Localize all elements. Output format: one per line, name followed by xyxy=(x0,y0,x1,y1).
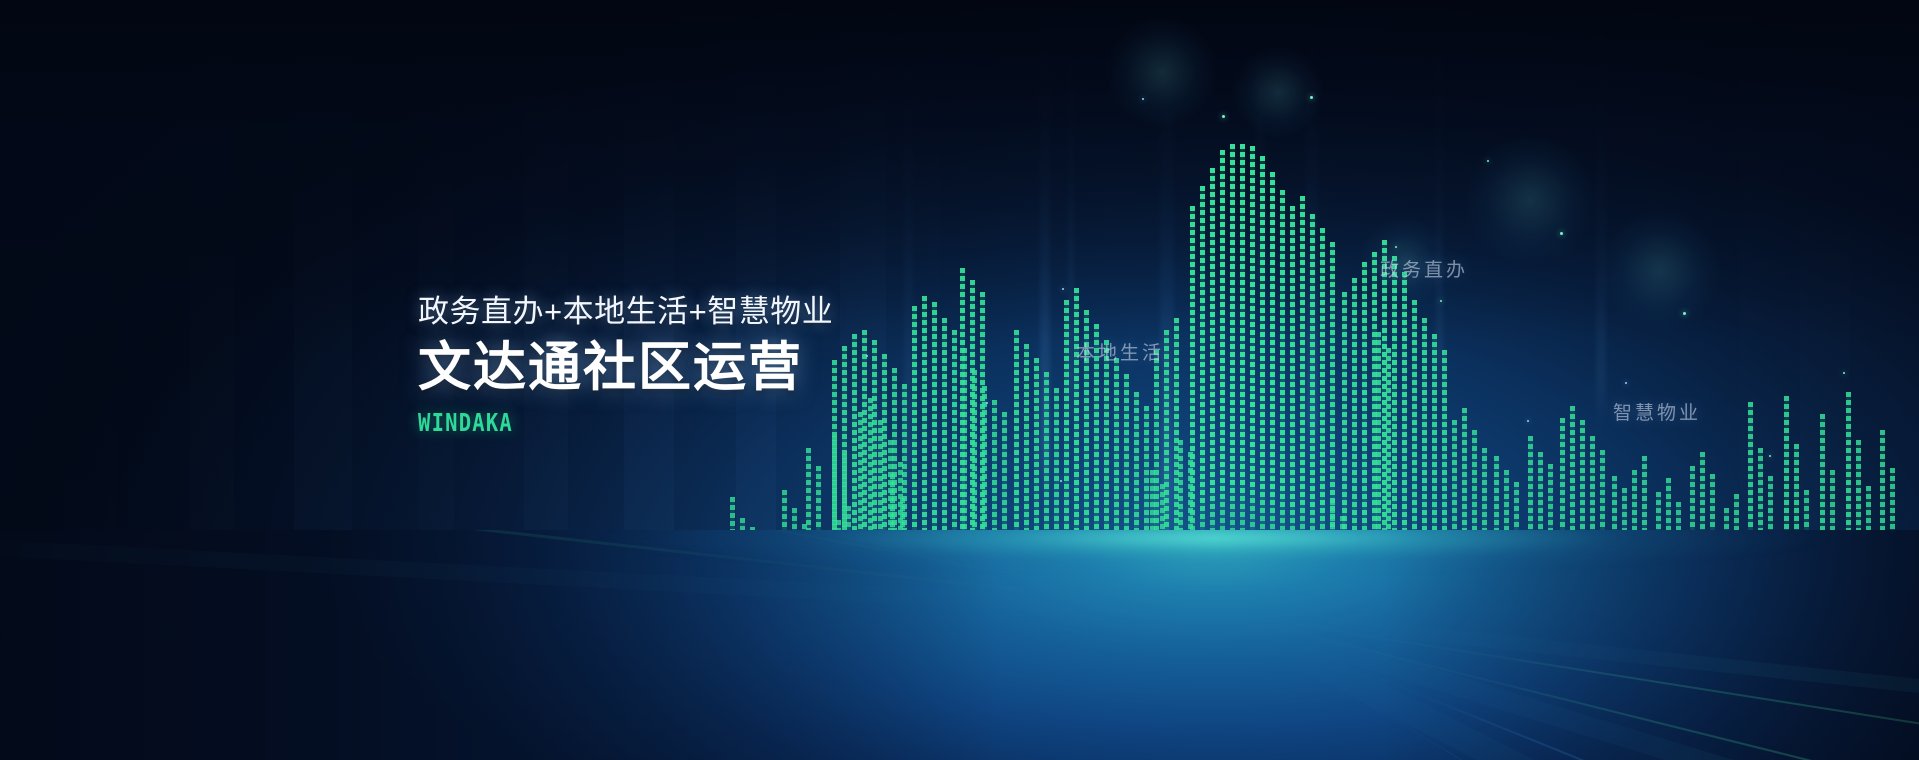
particle-dot xyxy=(1222,115,1225,118)
brand-wordmark: WINDAKA xyxy=(418,408,758,437)
label-smart-property: 智慧物业 xyxy=(1613,398,1701,425)
particle-dot xyxy=(1560,232,1563,235)
particle-dot xyxy=(1142,98,1144,100)
particle-dot xyxy=(1395,246,1397,248)
label-local-life: 本地生活 xyxy=(1076,338,1164,365)
particle-dot xyxy=(1440,300,1442,302)
banner-subtitle: 政务直办+本地生活+智慧物业 xyxy=(418,294,833,331)
particle-dot xyxy=(1062,288,1064,290)
particle-dot xyxy=(1625,382,1627,384)
particle-dot xyxy=(986,402,988,404)
headline-copy-block: 政务直办+本地生活+智慧物业 文达通社区运营 WINDAKA xyxy=(418,294,833,437)
particle-dot xyxy=(1683,312,1686,315)
horizon-glow xyxy=(0,530,1919,574)
particle-dot xyxy=(1843,372,1845,374)
particle-dot xyxy=(1527,420,1529,422)
label-government-direct: 政务直办 xyxy=(1380,255,1468,282)
particle-dot xyxy=(1769,455,1771,457)
particle-dot xyxy=(1310,96,1313,99)
banner-canvas: 政务直办+本地生活+智慧物业 文达通社区运营 WINDAKA 本地生活政务直办智… xyxy=(0,0,1919,760)
particle-dot xyxy=(1487,160,1489,162)
particle-dot xyxy=(1060,480,1062,482)
particle-dot xyxy=(866,355,868,357)
perspective-ground-plane xyxy=(0,530,1919,760)
banner-title: 文达通社区运营 xyxy=(418,341,833,394)
